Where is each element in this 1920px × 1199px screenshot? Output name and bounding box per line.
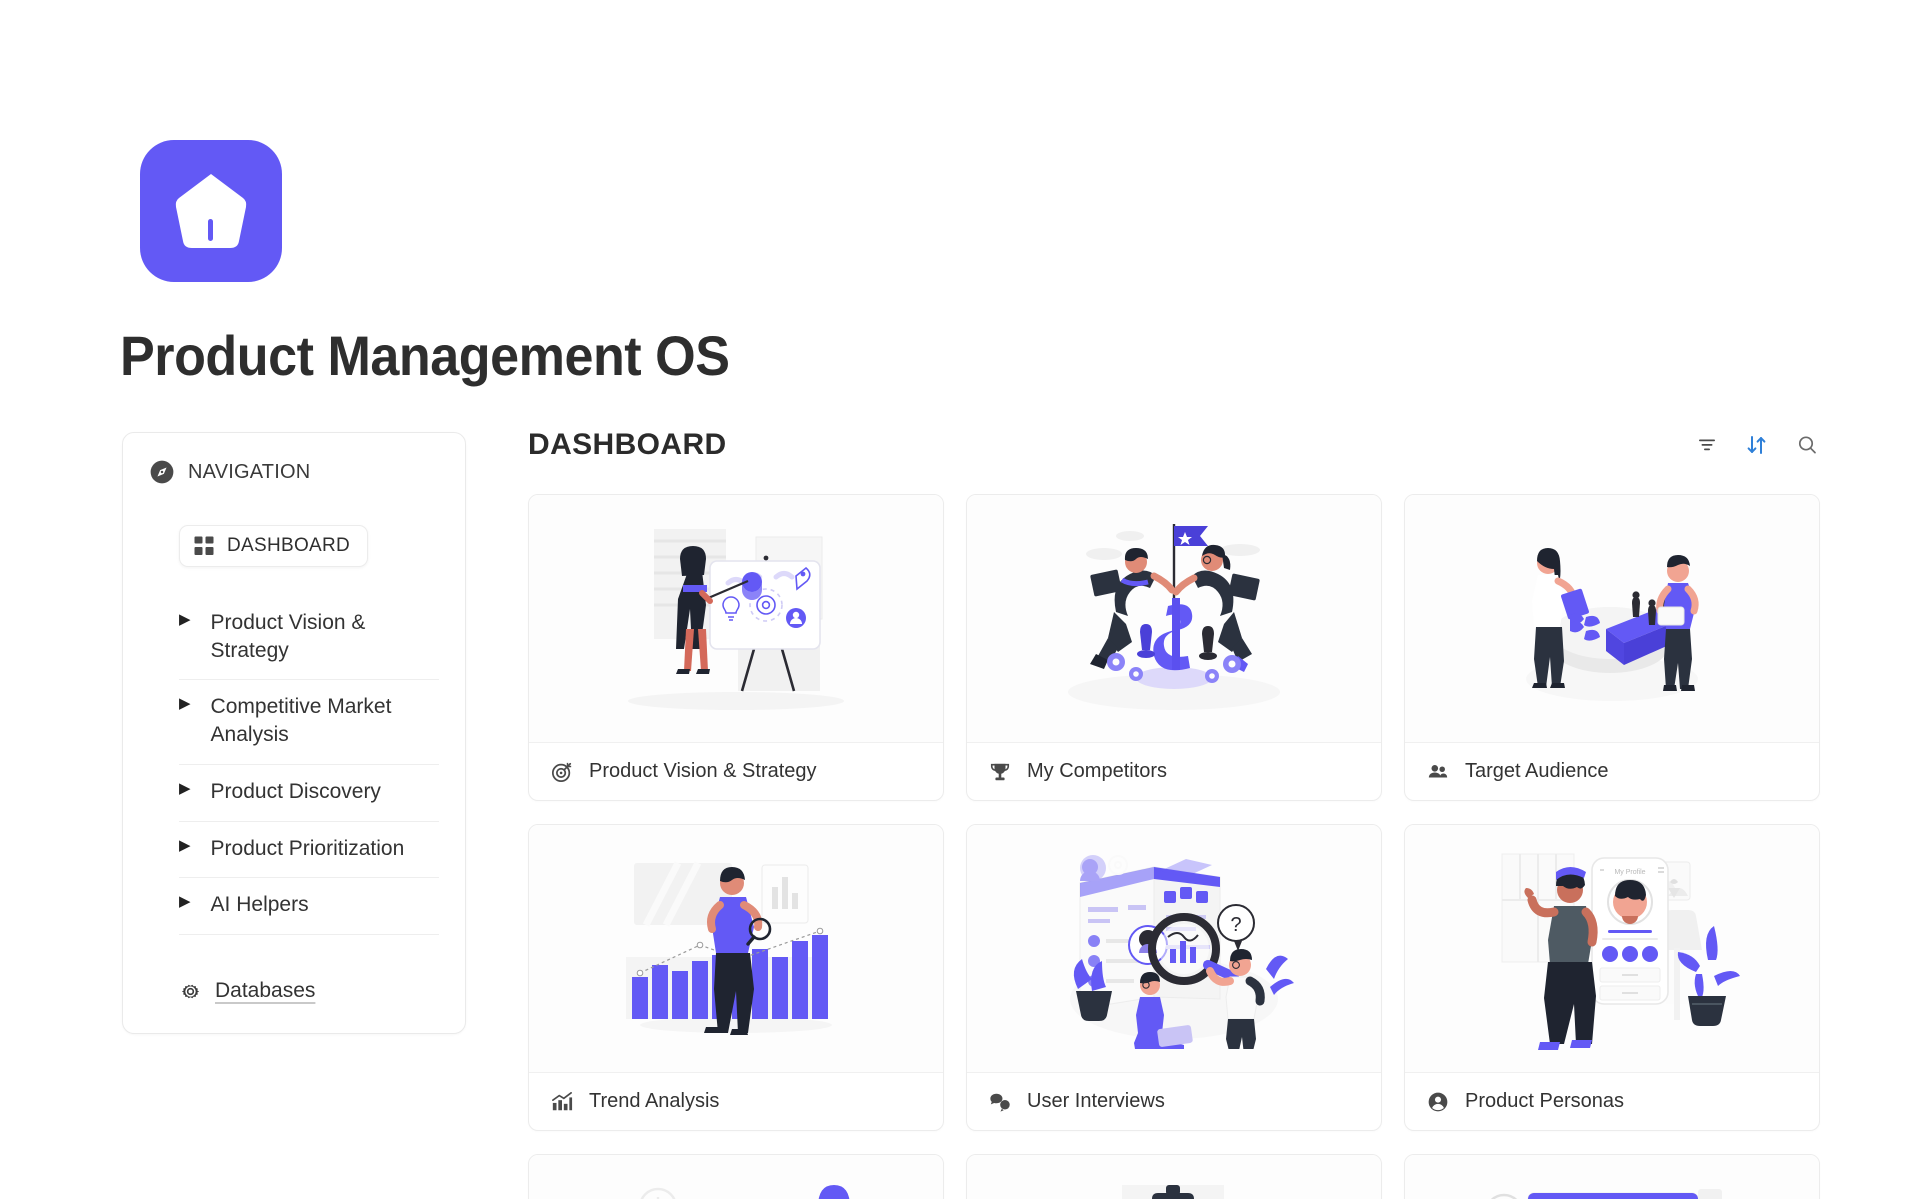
card-illustration-profile-magnifier: ? — [967, 825, 1381, 1073]
triangle-right-icon: ▶ — [179, 609, 191, 631]
card-label: My Competitors — [1027, 760, 1167, 783]
card-label: Product Personas — [1465, 1090, 1624, 1113]
card-footer: Target Audience — [1405, 743, 1819, 800]
search-icon — [1796, 434, 1818, 456]
sidebar-item-label: Product Prioritization — [211, 835, 405, 863]
page-title: Product Management OS — [120, 325, 729, 387]
card-footer: Trend Analysis — [529, 1073, 943, 1130]
sidebar-item-ai-helpers[interactable]: ▶ AI Helpers — [179, 878, 439, 935]
card-illustration-presentation-board — [529, 495, 943, 743]
card-footer: User Interviews — [967, 1073, 1381, 1130]
sidebar-item-product-prioritization[interactable]: ▶ Product Prioritization — [179, 822, 439, 879]
sidebar-item-product-vision-strategy[interactable]: ▶ Product Vision & Strategy — [179, 609, 439, 680]
filter-icon — [1696, 434, 1718, 456]
sidebar-item-competitive-market-analysis[interactable]: ▶ Competitive Market Analysis — [179, 680, 439, 764]
bar-chart-up-icon — [551, 1091, 573, 1113]
triangle-right-icon: ▶ — [179, 778, 191, 800]
search-button[interactable] — [1794, 432, 1820, 458]
sidebar-item-databases-label: Databases — [215, 979, 315, 1003]
card-illustration-phone-profile: My Profile — [1405, 825, 1819, 1073]
sidebar-item-product-discovery[interactable]: ▶ Product Discovery — [179, 765, 439, 822]
dashboard-card[interactable]: ? — [966, 824, 1382, 1131]
sidebar-item-dashboard-label: DASHBOARD — [227, 535, 350, 557]
navigation-sidebar: NAVIGATION DASHBOARD ▶ Product Vision & … — [122, 432, 466, 1034]
card-illustration-kanban-board — [1405, 1155, 1819, 1199]
sidebar-item-databases[interactable]: Databases — [179, 979, 439, 1003]
card-illustration-maze-question: ? — [529, 1155, 943, 1199]
dashboard-card[interactable]: ? — [528, 1154, 944, 1199]
triangle-right-icon: ▶ — [179, 693, 191, 715]
card-illustration-clipboard-checklist — [967, 1155, 1381, 1199]
pentagon-home-icon — [172, 169, 250, 253]
compass-icon — [149, 459, 175, 485]
sidebar-item-label: AI Helpers — [211, 891, 309, 919]
sidebar-nav-list: ▶ Product Vision & Strategy ▶ Competitiv… — [179, 609, 439, 935]
sidebar-item-label: Competitive Market Analysis — [211, 693, 426, 748]
dashboard-card[interactable]: My Profile — [1404, 824, 1820, 1131]
main-content: DASHBOARD — [528, 428, 1820, 1199]
dashboard-card[interactable]: My Competitors — [966, 494, 1382, 801]
navigation-header: NAVIGATION — [149, 459, 439, 485]
sort-button[interactable] — [1744, 432, 1770, 458]
main-header: DASHBOARD — [528, 428, 1820, 462]
main-title: DASHBOARD — [528, 428, 727, 462]
card-label: User Interviews — [1027, 1090, 1165, 1113]
card-label: Target Audience — [1465, 760, 1608, 783]
view-toolbar — [1694, 432, 1820, 458]
trophy-icon — [989, 761, 1011, 783]
card-footer: Product Vision & Strategy — [529, 743, 943, 800]
card-footer: Product Personas — [1405, 1073, 1819, 1130]
dashboard-card[interactable] — [966, 1154, 1382, 1199]
filter-button[interactable] — [1694, 432, 1720, 458]
dashboard-card-grid: Product Vision & Strategy — [528, 494, 1820, 1199]
card-label: Product Vision & Strategy — [589, 760, 817, 783]
sidebar-item-label: Product Discovery — [211, 778, 381, 806]
svg-text:My Profile: My Profile — [1614, 869, 1645, 876]
dashboard-card[interactable] — [1404, 1154, 1820, 1199]
card-label: Trend Analysis — [589, 1090, 719, 1113]
gear-icon — [179, 980, 202, 1003]
target-icon — [551, 761, 573, 783]
grid-icon — [194, 536, 214, 556]
svg-text:?: ? — [1230, 914, 1241, 936]
speech-bubbles-icon — [989, 1091, 1011, 1113]
app-logo — [140, 140, 282, 282]
triangle-right-icon: ▶ — [179, 891, 191, 913]
navigation-header-label: NAVIGATION — [188, 461, 310, 484]
dashboard-card[interactable]: Target Audience — [1404, 494, 1820, 801]
account-circle-icon — [1427, 1091, 1449, 1113]
sort-icon — [1745, 433, 1769, 457]
card-illustration-rising-bars — [529, 825, 943, 1073]
dashboard-card[interactable]: Product Vision & Strategy — [528, 494, 944, 801]
sidebar-item-label: Product Vision & Strategy — [211, 609, 426, 664]
app-root: Product Management OS NAVIGATION DASHBOA… — [0, 0, 1920, 1199]
card-illustration-pie-chart-people — [1405, 495, 1819, 743]
triangle-right-icon: ▶ — [179, 835, 191, 857]
card-footer: My Competitors — [967, 743, 1381, 800]
dashboard-card[interactable]: Trend Analysis — [528, 824, 944, 1131]
sidebar-item-dashboard[interactable]: DASHBOARD — [179, 525, 368, 567]
people-icon — [1427, 761, 1449, 783]
card-illustration-race-to-flag — [967, 495, 1381, 743]
